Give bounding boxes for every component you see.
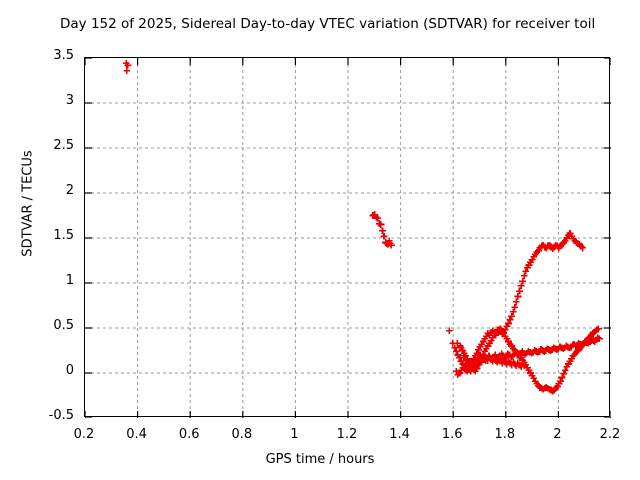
- y-tick-label: 0: [0, 363, 74, 378]
- plot-area: [84, 57, 610, 417]
- x-tick-label: 1.4: [370, 427, 430, 442]
- x-tick-label: 0.2: [54, 427, 114, 442]
- y-tick-label: 3: [0, 93, 74, 108]
- y-tick-label: 1.5: [0, 228, 74, 243]
- x-tick-label: 0.6: [159, 427, 219, 442]
- chart-title: Day 152 of 2025, Sidereal Day-to-day VTE…: [60, 16, 640, 32]
- data-points: [123, 60, 603, 394]
- y-tick-label: 1: [0, 273, 74, 288]
- x-tick-label: 1.6: [422, 427, 482, 442]
- x-tick-label: 2.2: [580, 427, 640, 442]
- x-tick-label: 0.4: [107, 427, 167, 442]
- plot-svg: [85, 58, 611, 418]
- x-tick-label: 1.8: [475, 427, 535, 442]
- x-tick-label: 1: [264, 427, 324, 442]
- y-tick-label: -0.5: [0, 408, 74, 423]
- chart-canvas: Day 152 of 2025, Sidereal Day-to-day VTE…: [0, 0, 640, 480]
- x-tick-label: 0.8: [212, 427, 272, 442]
- gridlines: [85, 58, 611, 418]
- y-tick-label: 2.5: [0, 138, 74, 153]
- x-tick-label: 2: [527, 427, 587, 442]
- series-track-b: [370, 211, 395, 248]
- y-tick-label: 0.5: [0, 318, 74, 333]
- y-tick-label: 3.5: [0, 48, 74, 63]
- x-tick-label: 1.2: [317, 427, 377, 442]
- series-track-d: [453, 326, 602, 395]
- x-axis-label: GPS time / hours: [0, 452, 640, 467]
- series-track-a: [123, 60, 131, 74]
- y-tick-label: 2: [0, 183, 74, 198]
- y-axis-label: SDTVAR / TECUs: [21, 124, 36, 284]
